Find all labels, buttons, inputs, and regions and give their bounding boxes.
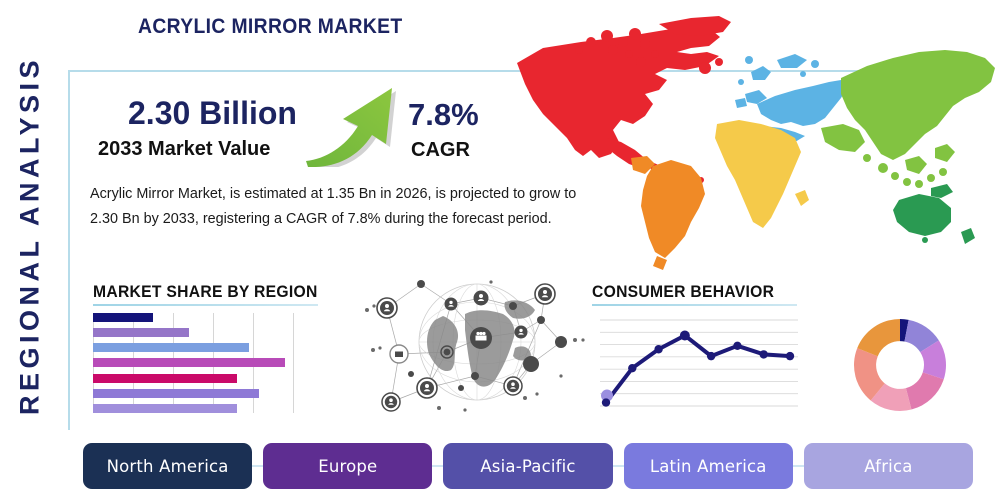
infographic-root: REGIONAL ANALYSIS ACRYLIC MIRROR MARKET …	[0, 0, 1000, 500]
line-marker	[760, 350, 768, 358]
region-pill-latin-america[interactable]: Latin America	[624, 443, 793, 489]
region-pill-label: Latin America	[650, 457, 767, 476]
region-pill-label: Asia-Pacific	[480, 457, 575, 476]
bar-row	[93, 389, 293, 398]
market-share-heading: MARKET SHARE BY REGION	[93, 283, 318, 302]
bar-chart-gridline	[293, 313, 294, 413]
regional-share-donut-chart	[851, 316, 949, 414]
bar-row	[93, 343, 293, 352]
line-marker	[786, 352, 794, 360]
region-pill-bar: North AmericaEuropeAsia-PacificLatin Ame…	[83, 443, 973, 489]
bar-row	[93, 313, 293, 322]
cagr-caption: CAGR	[411, 139, 470, 162]
side-label: REGIONAL ANALYSIS	[0, 0, 60, 500]
side-label-text: REGIONAL ANALYSIS	[15, 16, 46, 456]
consumer-behavior-heading-rule	[592, 304, 797, 306]
page-title: ACRYLIC MIRROR MARKET	[138, 15, 403, 39]
line-marker	[628, 364, 636, 372]
region-pill-label: Europe	[318, 457, 377, 476]
map-region-north-america	[517, 16, 731, 187]
line-marker	[654, 345, 662, 353]
bar-fill	[93, 313, 153, 322]
map-region-oceania	[893, 184, 975, 244]
bar-fill	[93, 389, 259, 398]
bar-fill	[93, 343, 249, 352]
bar-row	[93, 358, 293, 367]
line-marker	[602, 398, 610, 406]
region-pill-label: North America	[107, 457, 229, 476]
bar-fill	[93, 404, 237, 413]
cagr-figure: 7.8%	[408, 97, 479, 133]
consumer-behavior-heading: CONSUMER BEHAVIOR	[592, 283, 774, 302]
bar-row	[93, 328, 293, 337]
donut-segment	[906, 372, 944, 409]
bar-fill	[93, 374, 237, 383]
region-pill-north-america[interactable]: North America	[83, 443, 252, 489]
line-marker	[680, 330, 690, 340]
growth-arrow-icon	[300, 82, 410, 167]
market-value-figure: 2.30 Billion	[128, 95, 297, 132]
map-region-south-america	[631, 156, 705, 270]
map-region-asia	[821, 50, 995, 188]
bar-row	[93, 404, 293, 413]
region-pill-label: Africa	[864, 457, 912, 476]
bar-row	[93, 374, 293, 383]
consumer-behavior-line-chart	[600, 312, 798, 414]
region-pill-africa[interactable]: Africa	[804, 443, 973, 489]
globe-network-icon	[365, 268, 590, 420]
region-pills: North AmericaEuropeAsia-PacificLatin Ame…	[83, 443, 973, 489]
bar-fill	[93, 328, 189, 337]
market-share-bar-chart	[93, 313, 293, 413]
market-share-heading-rule	[93, 304, 318, 306]
region-pill-asia-pacific[interactable]: Asia-Pacific	[443, 443, 612, 489]
bar-chart-rows	[93, 313, 293, 413]
world-map	[495, 8, 1000, 280]
line-marker	[733, 342, 741, 350]
region-pill-europe[interactable]: Europe	[263, 443, 432, 489]
bar-fill	[93, 358, 285, 367]
line-marker	[707, 352, 715, 360]
market-value-caption: 2033 Market Value	[98, 138, 270, 161]
